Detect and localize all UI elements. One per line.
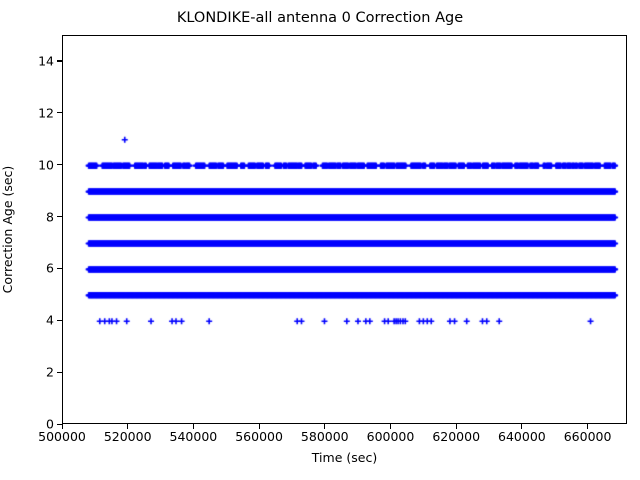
x-tick-label: 560000 (214, 429, 304, 444)
x-tick-label: 500000 (17, 429, 107, 444)
y-axis-label: Correction Age (sec) (0, 35, 18, 424)
x-tick-mark (456, 424, 457, 429)
x-tick-label: 580000 (280, 429, 370, 444)
x-tick-label: 640000 (477, 429, 567, 444)
plot-area (62, 35, 627, 424)
x-tick-label: 620000 (411, 429, 501, 444)
figure-canvas: KLONDIKE-all antenna 0 Correction Age 02… (0, 0, 640, 480)
x-tick-mark (521, 424, 522, 429)
x-tick-mark (390, 424, 391, 429)
x-tick-label: 520000 (83, 429, 173, 444)
x-tick-mark (259, 424, 260, 429)
x-tick-mark (62, 424, 63, 429)
x-tick-label: 540000 (148, 429, 238, 444)
scatter-plot-canvas (63, 36, 627, 424)
x-tick-mark (324, 424, 325, 429)
x-tick-label: 660000 (543, 429, 633, 444)
x-tick-label: 600000 (345, 429, 435, 444)
x-axis-label: Time (sec) (62, 450, 627, 465)
x-tick-mark (193, 424, 194, 429)
chart-title: KLONDIKE-all antenna 0 Correction Age (0, 10, 640, 26)
x-tick-mark (587, 424, 588, 429)
x-tick-mark (127, 424, 128, 429)
